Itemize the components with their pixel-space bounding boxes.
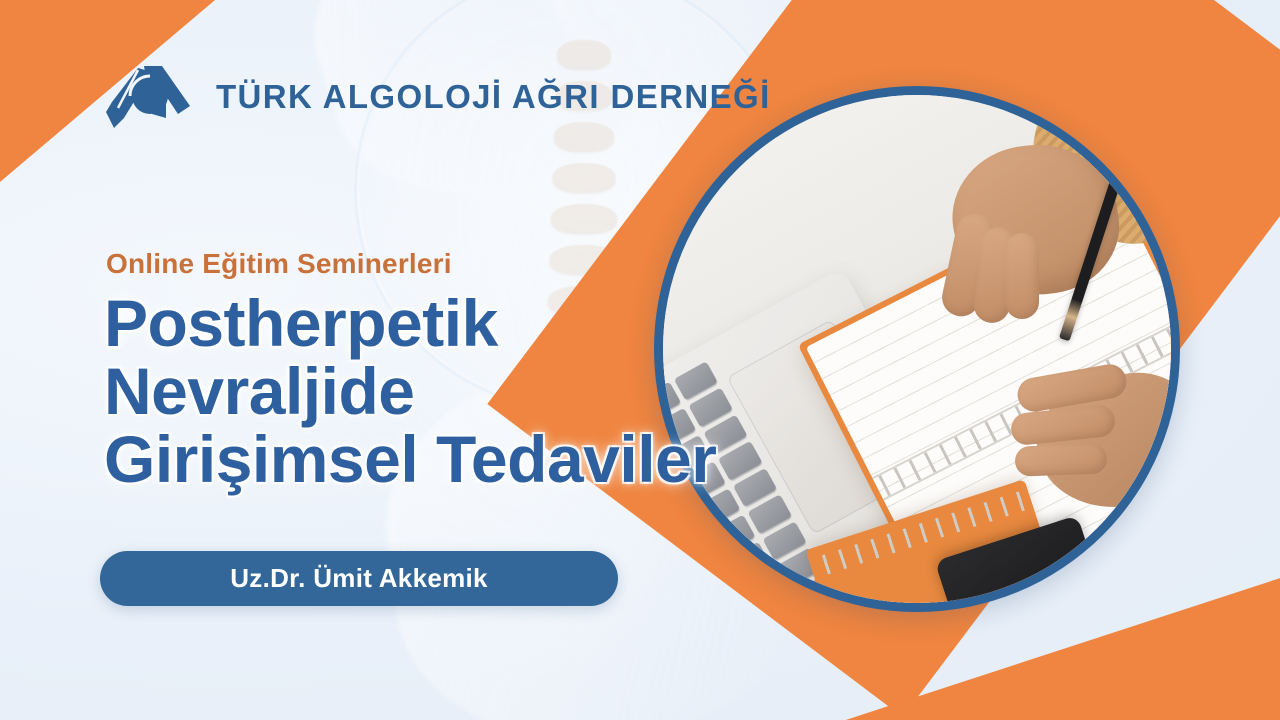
algoloji-arch-logo-icon xyxy=(104,62,200,132)
seminar-poster: TÜRK ALGOLOJİ AĞRI DERNEĞİ Online Eğitim… xyxy=(0,0,1280,720)
finger xyxy=(1015,443,1108,476)
headline-line-2: Nevraljide xyxy=(104,358,804,426)
page-title: Postherpetik Nevraljide Girişimsel Tedav… xyxy=(104,290,804,494)
brand-name: TÜRK ALGOLOJİ AĞRI DERNEĞİ xyxy=(216,78,771,116)
headline-line-1: Postherpetik xyxy=(104,290,804,358)
speaker-name: Uz.Dr. Ümit Akkemik xyxy=(230,563,488,594)
headline-line-3: Girişimsel Tedaviler xyxy=(104,426,804,494)
brand-logo: TÜRK ALGOLOJİ AĞRI DERNEĞİ xyxy=(104,62,771,132)
vertebra xyxy=(550,245,619,275)
writing-hand xyxy=(913,95,1128,365)
supporting-hand xyxy=(1007,357,1171,517)
eyebrow-label: Online Eğitim Seminerleri xyxy=(106,248,452,280)
vertebra xyxy=(551,204,617,234)
finger xyxy=(1005,233,1039,319)
speaker-badge: Uz.Dr. Ümit Akkemik xyxy=(100,551,618,606)
vertebra xyxy=(553,163,616,193)
